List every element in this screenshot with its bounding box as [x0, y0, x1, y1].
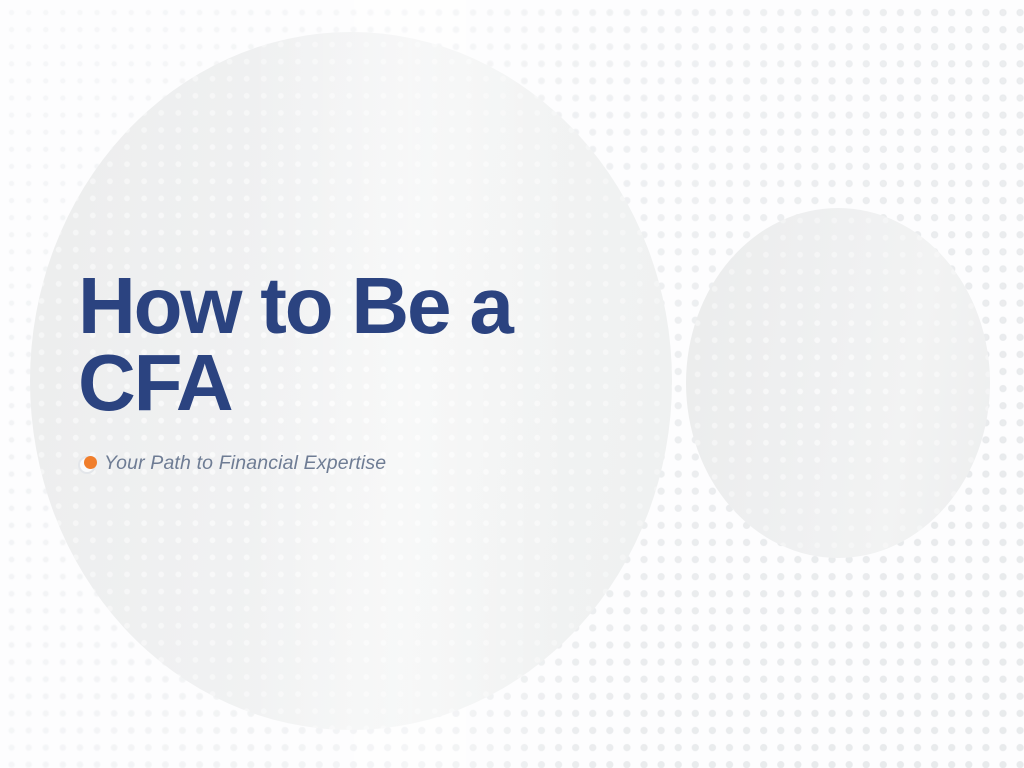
orange-circle-icon	[78, 454, 104, 472]
page-subtitle: Your Path to Financial Expertise	[104, 452, 386, 475]
page-title: How to Be a CFA	[78, 268, 698, 422]
title-block: How to Be a CFA Your Path to Financial E…	[78, 268, 698, 475]
subtitle-row: Your Path to Financial Expertise	[78, 452, 698, 475]
small-circle-dot-texture	[686, 208, 990, 558]
title-slide: How to Be a CFA Your Path to Financial E…	[0, 0, 1024, 768]
bullet-dot-icon	[84, 456, 97, 469]
